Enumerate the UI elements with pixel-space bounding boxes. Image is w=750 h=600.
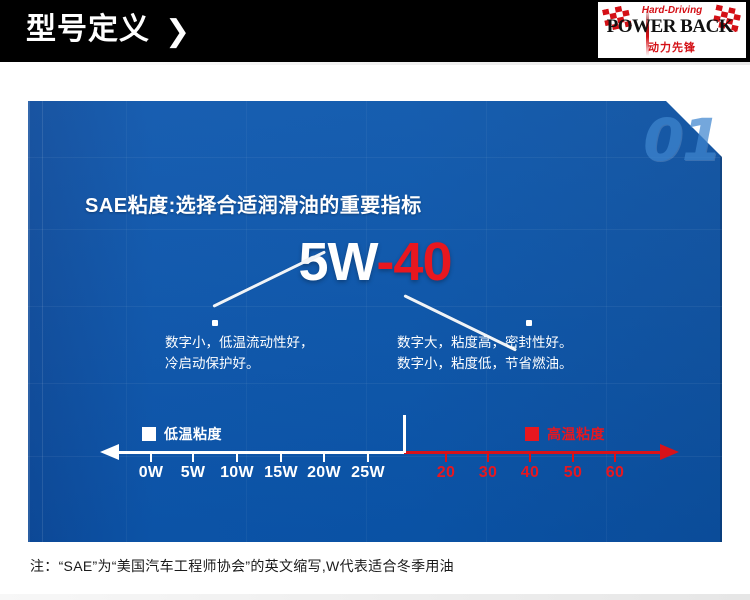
axis-tick (572, 451, 574, 462)
axis-label-25w: 25W (351, 464, 385, 482)
step-number-watermark: 01 (643, 106, 720, 174)
grid-line (28, 383, 722, 384)
legend-low-temp-label: 低温粘度 (164, 424, 222, 444)
axis-label-15w: 15W (264, 464, 298, 482)
legend-low-temp: 低温粘度 (142, 424, 222, 444)
grade-low-temp: 5W (299, 232, 377, 292)
note-high-temp-line1: 数字大，粘度高，密封性好。 (397, 332, 573, 353)
axis-tick (280, 451, 282, 462)
axis-label-30: 30 (479, 464, 497, 482)
footer-divider (0, 594, 750, 600)
note-low-temp: 数字小，低温流动性好， 冷启动保护好。 (165, 332, 314, 374)
panel-edge-shadow (720, 101, 722, 542)
axis-label-20: 20 (437, 464, 455, 482)
axis-divider (403, 415, 406, 453)
axis-tick (192, 451, 194, 462)
axis-high-temp (404, 451, 665, 454)
logo-chinese-name: 动力先锋 (598, 39, 746, 55)
logo-tagline: Hard-Driving (598, 5, 746, 16)
axis-label-60: 60 (606, 464, 624, 482)
leader-dot-left (212, 320, 218, 326)
right-arrow-icon (660, 444, 679, 460)
grade-high-temp: 40 (393, 232, 451, 292)
panel-inner-line (42, 101, 43, 542)
page-root: 型号定义 ❯ (0, 0, 750, 600)
brand-logo: Hard-Driving POWER BACK. 动力先锋 (598, 2, 746, 58)
panel-heading: SAE粘度:选择合适润滑油的重要指标 (85, 189, 422, 218)
axis-label-20w: 20W (307, 464, 341, 482)
chevron-right-icon: ❯ (165, 10, 190, 54)
axis-tick (236, 451, 238, 462)
axis-tick (150, 451, 152, 462)
note-low-temp-line1: 数字小，低温流动性好， (165, 332, 314, 353)
grid-line (28, 306, 722, 307)
page-title: 型号定义 (26, 8, 150, 52)
panel-edge-highlight (28, 101, 30, 542)
axis-tick (367, 451, 369, 462)
legend-high-temp-label: 高温粘度 (547, 424, 605, 444)
grid-line (28, 229, 722, 230)
grid-line (28, 157, 722, 158)
logo-brand-text: POWER BACK (607, 16, 733, 37)
axis-low-temp (118, 451, 404, 454)
leader-dot-right (526, 320, 532, 326)
axis-label-40: 40 (521, 464, 539, 482)
axis-tick (323, 451, 325, 462)
grid-line (126, 101, 127, 542)
axis-tick (445, 451, 447, 462)
axis-label-50: 50 (564, 464, 582, 482)
axis-label-0w: 0W (139, 464, 164, 482)
grid-line (28, 456, 722, 457)
note-high-temp: 数字大，粘度高，密封性好。 数字小，粘度低，节省燃油。 (397, 332, 573, 374)
header-divider (0, 62, 750, 65)
axis-tick (529, 451, 531, 462)
axis-label-10w: 10W (220, 464, 254, 482)
viscosity-grade: 5W-40 (0, 233, 750, 291)
footer-note: 注：“SAE”为“美国汽车工程师协会”的英文缩写,W代表适合冬季用油 (30, 556, 454, 576)
note-low-temp-line2: 冷启动保护好。 (165, 353, 314, 374)
grade-separator: - (376, 232, 393, 292)
white-square-icon (142, 427, 156, 441)
axis-label-5w: 5W (181, 464, 206, 482)
logo-brand-dot: . (733, 16, 737, 37)
logo-brand: POWER BACK. (598, 16, 746, 37)
axis-tick (487, 451, 489, 462)
legend-high-temp: 高温粘度 (525, 424, 605, 444)
red-square-icon (525, 427, 539, 441)
left-arrow-icon (100, 444, 119, 460)
axis-tick (614, 451, 616, 462)
note-high-temp-line2: 数字小，粘度低，节省燃油。 (397, 353, 573, 374)
